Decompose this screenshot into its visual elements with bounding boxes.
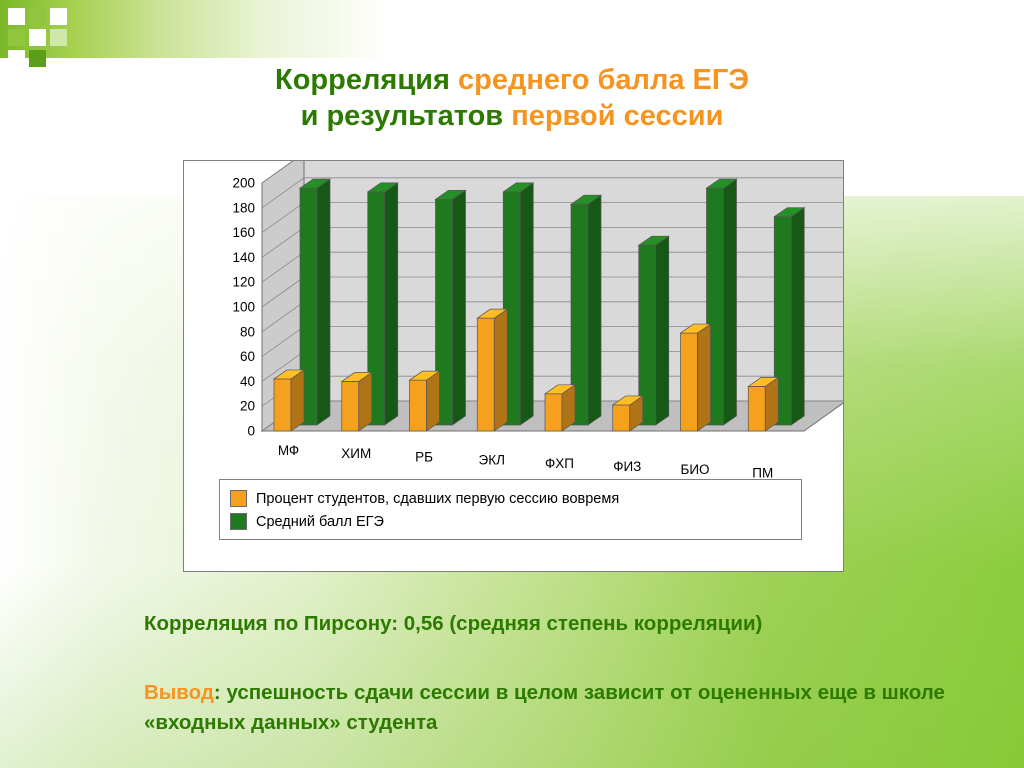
bar-orange-1-front	[342, 381, 359, 431]
bar-orange-2-side	[427, 371, 440, 431]
x-axis-label-6: БИО	[680, 462, 709, 477]
bar-orange-1-side	[359, 372, 372, 431]
y-axis-tick-6: 120	[232, 275, 255, 290]
title-word-green-2: и результатов	[301, 100, 504, 132]
y-axis-tick-4: 80	[240, 324, 255, 339]
y-axis-tick-0: 0	[247, 424, 255, 439]
legend-label-0: Процент студентов, сдавших первую сессию…	[256, 491, 619, 507]
decor-square-1	[8, 8, 25, 25]
bar-orange-6-side	[698, 324, 711, 431]
bar-green-7-side	[791, 208, 804, 425]
bar-orange-3-front	[477, 318, 494, 431]
bar-orange-0-front	[274, 379, 291, 431]
title-word-orange-2: первой сессии	[511, 100, 723, 132]
bar-orange-7-front	[748, 386, 765, 431]
bar-orange-3-side	[494, 309, 507, 431]
title-line-2: и результатов первой сессии	[0, 98, 1024, 134]
y-axis-tick-7: 140	[232, 250, 255, 265]
bar-green-5-side	[656, 236, 669, 425]
bar-green-3-side	[520, 183, 533, 425]
bar-green-0-side	[317, 179, 330, 425]
x-axis-label-3: ЭКЛ	[479, 453, 505, 468]
footer-conclusion-text: : успешность сдачи сессии в целом зависи…	[144, 681, 945, 734]
y-axis-tick-2: 40	[240, 374, 255, 389]
y-axis-tick-5: 100	[232, 300, 255, 315]
y-axis-tick-3: 60	[240, 349, 255, 364]
legend-swatch-green	[230, 513, 247, 530]
decor-square-6	[50, 29, 67, 46]
bar-orange-6-front	[681, 333, 698, 431]
x-axis-label-1: ХИМ	[341, 446, 371, 461]
y-axis-tick-8: 160	[232, 225, 255, 240]
chart-container: 020406080100120140160180200МФХИМРБЭКЛФХП…	[183, 160, 844, 572]
bar-green-6-side	[724, 179, 737, 425]
bar-orange-2-front	[410, 380, 427, 431]
bar-orange-5-front	[613, 405, 630, 431]
decor-square-2	[29, 8, 46, 25]
title-line-1: Корреляция среднего балла ЕГЭ	[0, 62, 1024, 98]
chart-legend: Процент студентов, сдавших первую сессию…	[219, 479, 802, 540]
x-axis-label-2: РБ	[415, 449, 433, 464]
page-title: Корреляция среднего балла ЕГЭ и результа…	[0, 62, 1024, 134]
bar-orange-0-side	[291, 370, 304, 431]
footer-conclusion-label: Вывод	[144, 681, 214, 704]
x-axis-label-4: ФХП	[545, 456, 574, 471]
decor-square-5	[29, 29, 46, 46]
x-axis-label-5: ФИЗ	[613, 459, 641, 474]
legend-label-1: Средний балл ЕГЭ	[256, 514, 384, 530]
legend-swatch-orange	[230, 490, 247, 507]
bar-green-1-side	[385, 183, 398, 425]
footer-conclusion: Вывод: успешность сдачи сессии в целом з…	[144, 678, 1004, 738]
bar-green-2-side	[453, 190, 466, 425]
y-axis-tick-10: 200	[232, 176, 255, 191]
y-axis-tick-9: 180	[232, 200, 255, 215]
bar-green-4-side	[588, 195, 601, 425]
legend-item-1: Средний балл ЕГЭ	[230, 510, 791, 533]
x-axis-label-0: МФ	[278, 443, 299, 458]
footer-correlation: Корреляция по Пирсону: 0,56 (средняя сте…	[144, 612, 1004, 636]
y-axis-tick-1: 20	[240, 399, 255, 414]
legend-item-0: Процент студентов, сдавших первую сессию…	[230, 487, 791, 510]
title-word-green-1: Корреляция	[275, 64, 450, 96]
title-word-orange-1: среднего балла ЕГЭ	[458, 64, 749, 96]
decor-square-3	[50, 8, 67, 25]
bar-orange-4-front	[545, 394, 562, 431]
slide-header-band	[0, 0, 1024, 58]
decor-square-4	[8, 29, 25, 46]
